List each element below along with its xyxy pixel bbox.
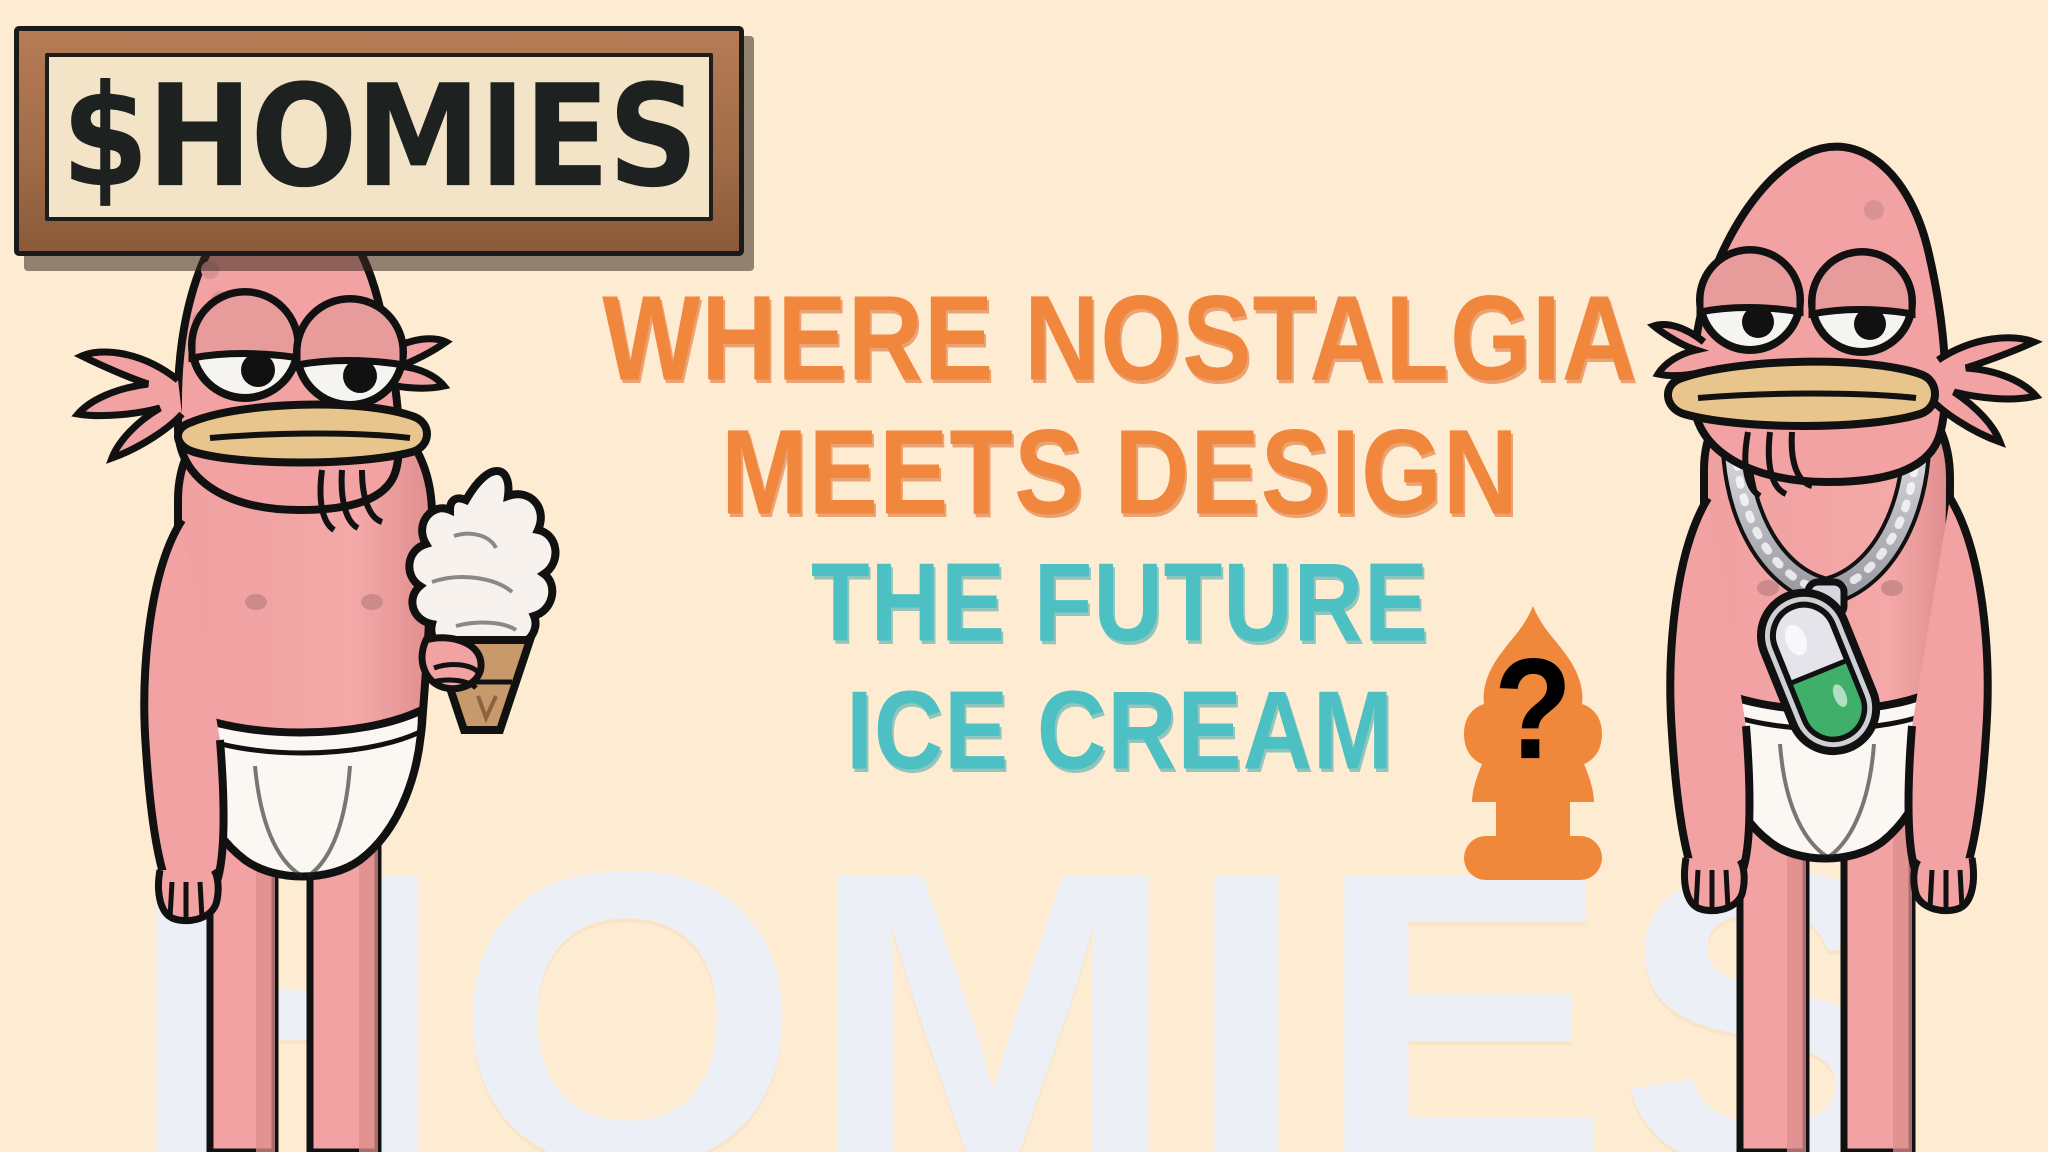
headline-block: WHERE NOSTALGIA MEETS DESIGN THE FUTURE … [560,282,1680,770]
character-left-with-ice-cream [60,170,580,1152]
headline-line-4: ICE CREAM [560,678,1680,785]
sign-wooden-frame: $HOMIES [14,26,744,256]
character-right-with-chain [1620,130,2048,1152]
headline-line-2: MEETS DESIGN [560,416,1680,532]
eye-right [1812,252,1912,352]
nipple-right [1881,580,1903,596]
whisker-fins-left [78,352,182,458]
sign-label: $HOMIES [61,66,696,207]
nipple-left [1757,580,1779,596]
nipple-left [245,594,267,610]
eye-right [297,299,403,405]
sign-panel: $HOMIES [45,53,713,221]
headline-line-3: THE FUTURE [560,550,1680,657]
ice-cream-cone [409,471,555,730]
eye-left [1700,250,1800,350]
nipple-right [361,594,383,610]
headline-line-1: WHERE NOSTALGIA [560,282,1680,398]
poster-canvas: HOMIES [0,0,2048,1152]
homies-sign: $HOMIES [14,26,754,266]
head [1654,147,2036,496]
eye-left [192,292,298,398]
